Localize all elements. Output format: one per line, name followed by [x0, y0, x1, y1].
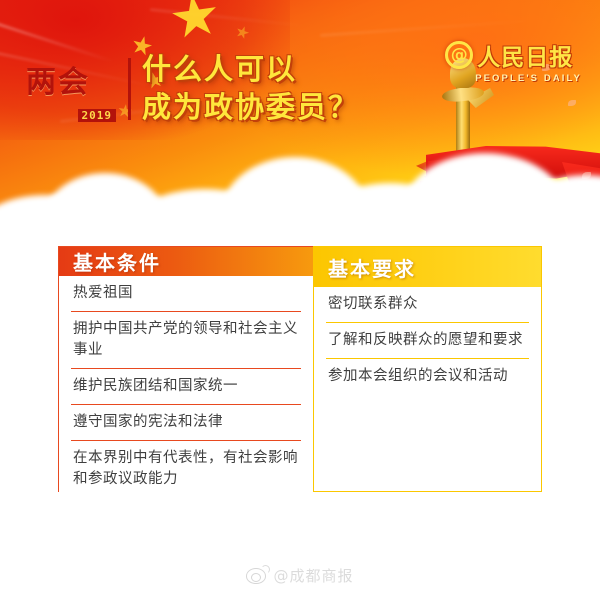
table-row: 密切联系群众 [326, 287, 529, 322]
column-header-basic-requirements: 基本要求 [314, 247, 541, 287]
publisher-name-en: PEOPLE'S DAILY [475, 73, 582, 84]
table-row: 了解和反映群众的愿望和要求 [326, 322, 529, 358]
two-sessions-logo-label: 两会 [26, 68, 118, 98]
column-body-basic-conditions: 热爱祖国 拥护中国共产党的领导和社会主义事业 维护民族团结和国家统一 遵守国家的… [59, 276, 313, 497]
table-row: 参加本会组织的会议和活动 [326, 358, 529, 394]
banner-header: 两会 2019 什么人可以 成为政协委员？ [0, 0, 600, 215]
weibo-icon [246, 568, 266, 584]
at-symbol-icon: @ [445, 41, 473, 69]
publisher-name-cn: 人民日报 [477, 38, 573, 72]
table-row: 拥护中国共产党的领导和社会主义事业 [71, 311, 301, 368]
light-streak [320, 19, 540, 37]
publisher-logo: @ 人民日报 PEOPLE'S DAILY [445, 38, 582, 84]
column-header-basic-conditions: 基本条件 [59, 247, 313, 276]
table-row: 遵守国家的宪法和法律 [71, 404, 301, 440]
table-row: 在本界别中有代表性，有社会影响和参政议政能力 [71, 440, 301, 497]
logo-divider [128, 58, 131, 120]
table-row: 维护民族团结和国家统一 [71, 368, 301, 404]
column-body-basic-requirements: 密切联系群众 了解和反映群众的愿望和要求 参加本会组织的会议和活动 [314, 287, 541, 491]
watermark-text: @成都商报 [273, 565, 353, 586]
two-sessions-logo: 两会 2019 [26, 68, 118, 120]
table-column-basic-conditions: 基本条件 热爱祖国 拥护中国共产党的领导和社会主义事业 维护民族团结和国家统一 … [58, 246, 313, 492]
criteria-table: 基本条件 热爱祖国 拥护中国共产党的领导和社会主义事业 维护民族团结和国家统一 … [58, 246, 542, 492]
two-sessions-year-badge: 2019 [78, 109, 117, 122]
watermark: @成都商报 [0, 565, 600, 586]
table-column-basic-requirements: 基本要求 密切联系群众 了解和反映群众的愿望和要求 参加本会组织的会议和活动 [313, 246, 542, 492]
infographic-page: 两会 2019 什么人可以 成为政协委员？ [0, 0, 600, 600]
cloud-decoration [0, 135, 600, 215]
table-row: 热爱祖国 [71, 276, 301, 311]
